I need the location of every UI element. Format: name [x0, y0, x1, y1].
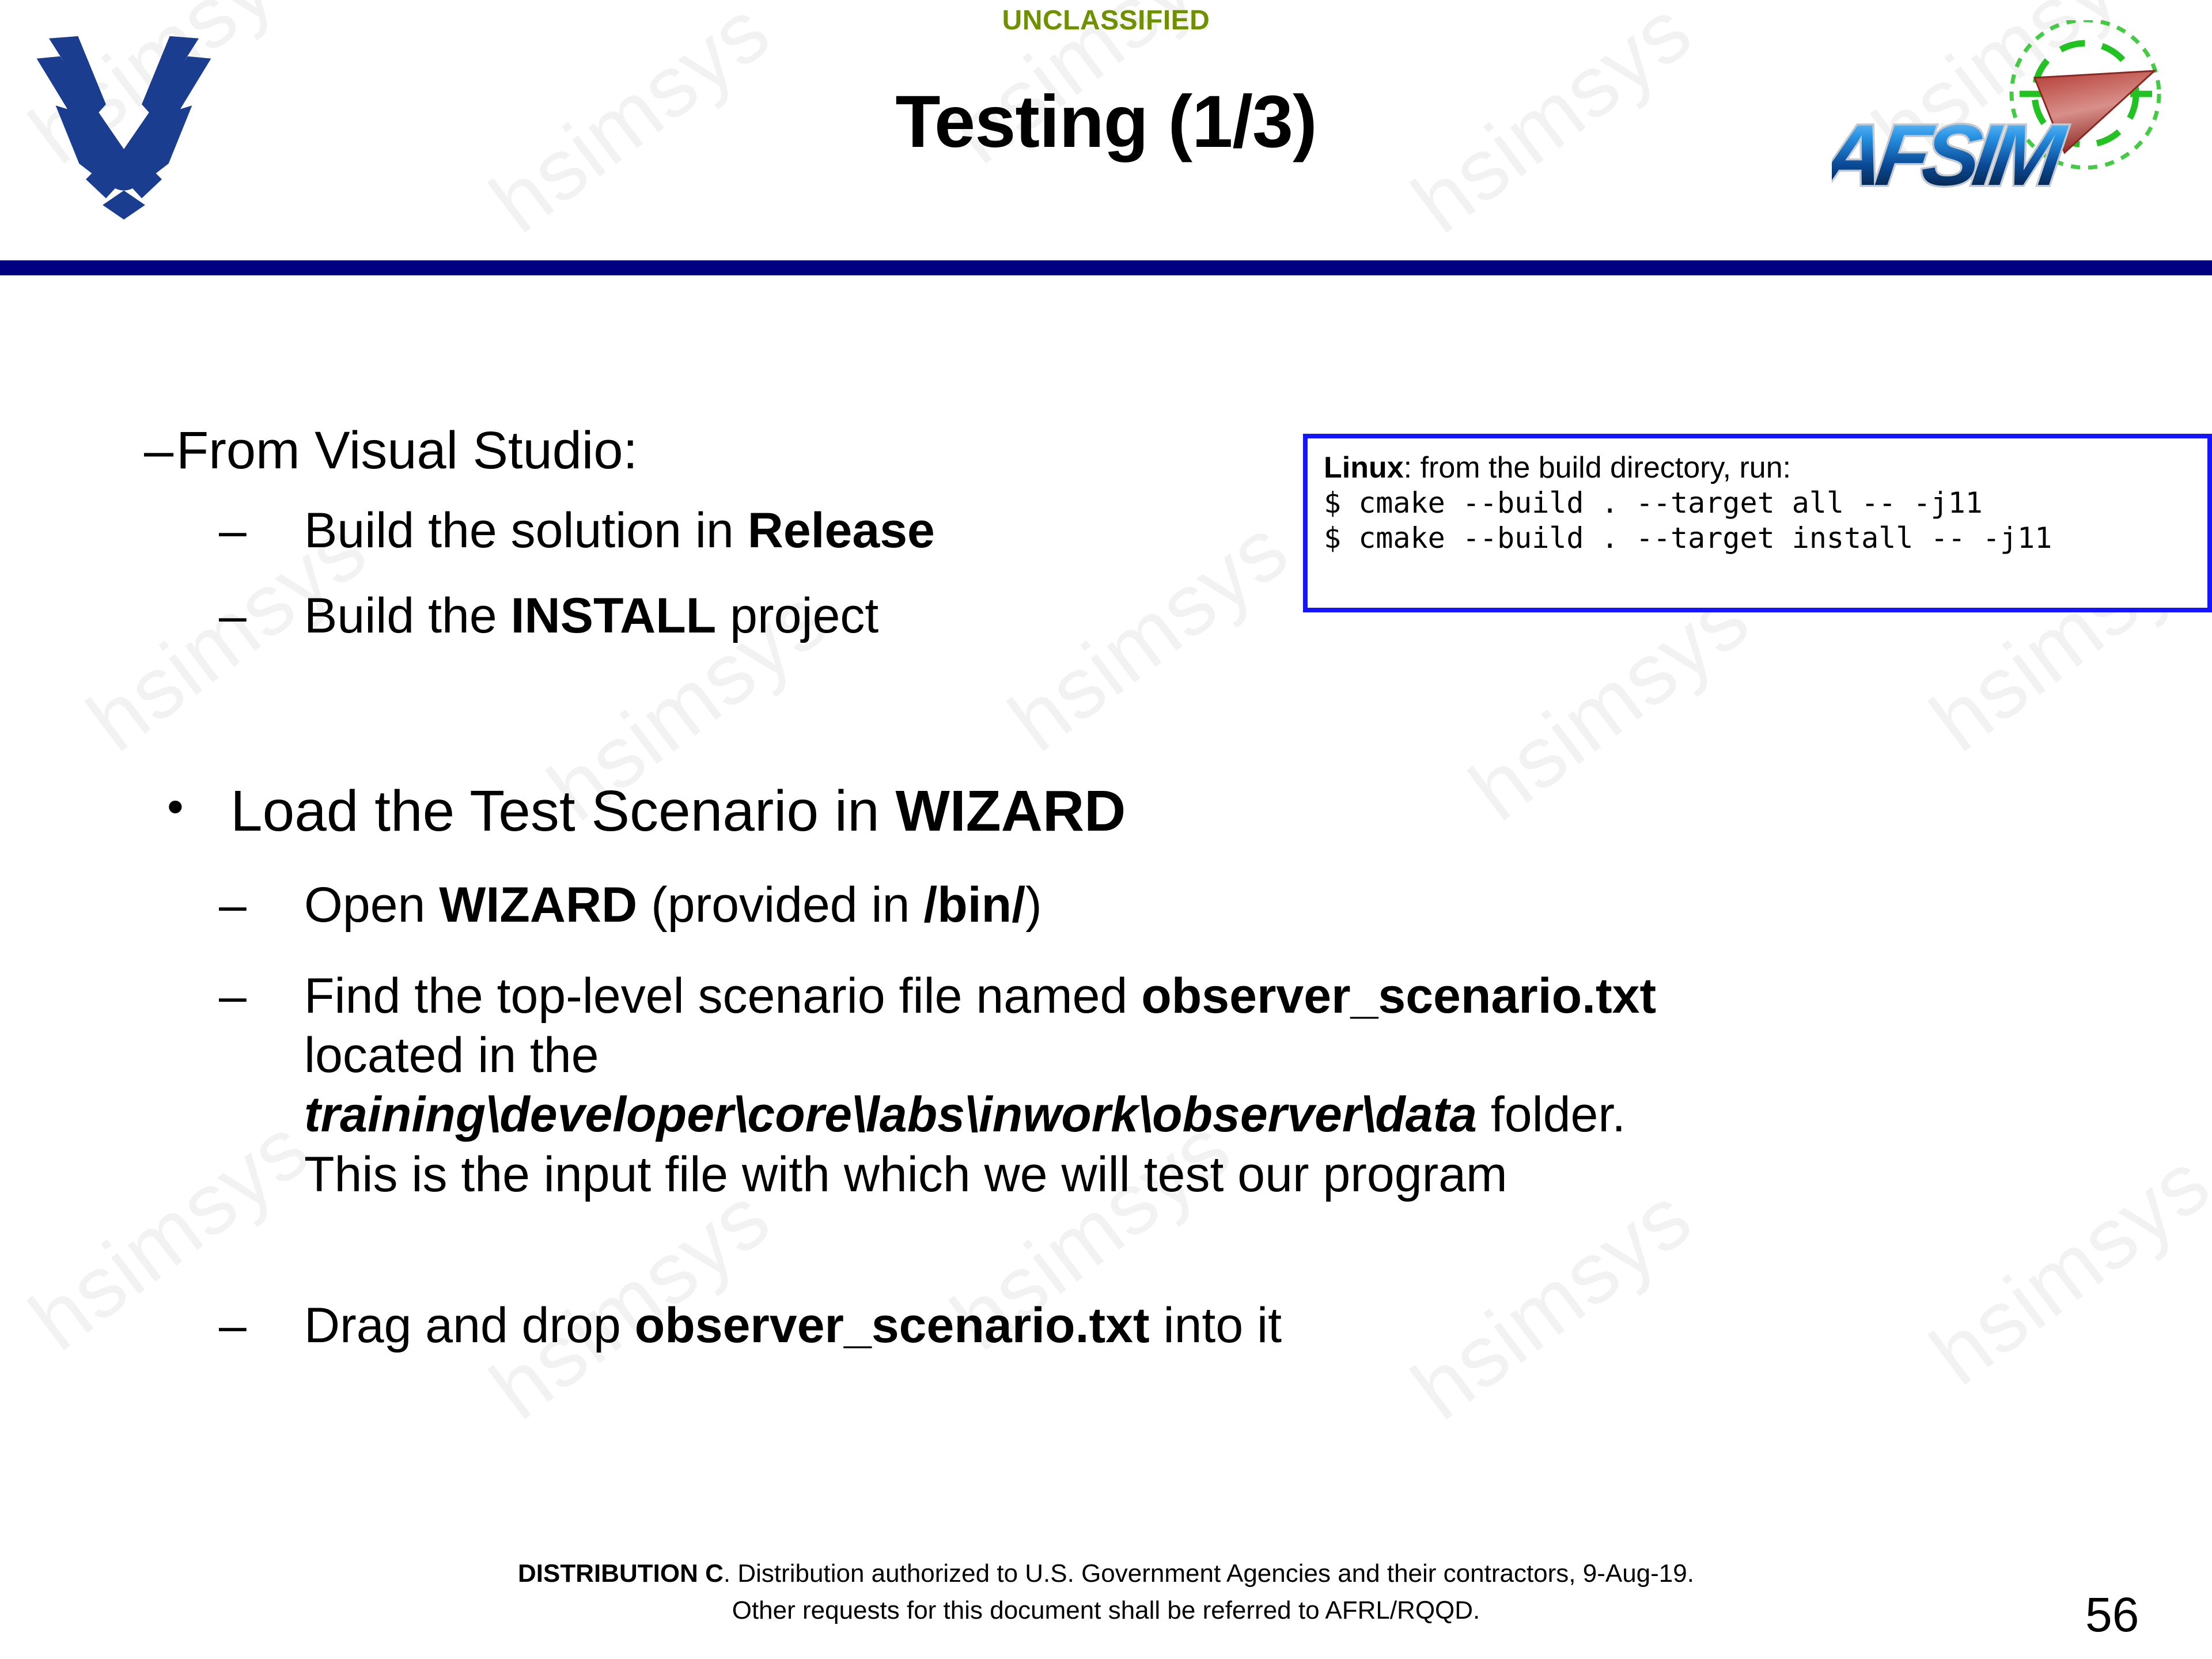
bullet-text: Find the top-level scenario file named o…: [304, 967, 1687, 1205]
bullet-from-visual-studio: –From Visual Studio:: [144, 424, 638, 477]
bullet-text-path: training\developer\core\labs\inwork\obse…: [304, 1087, 1477, 1142]
bullet-text-seg: ): [1025, 877, 1042, 933]
air-force-wings-logo: [12, 32, 236, 222]
dot-bullet-marker: •: [167, 782, 230, 832]
bullet-drag-and-drop: – Drag and drop observer_scenario.txt in…: [219, 1301, 1282, 1350]
bullet-text-pre: Build the solution in: [304, 503, 748, 558]
distribution-statement: DISTRIBUTION C. Distribution authorized …: [0, 1555, 2212, 1592]
header-divider: [0, 260, 2212, 275]
linux-label-rest: : from the build directory, run:: [1404, 451, 1791, 484]
linux-label-bold: Linux: [1324, 451, 1404, 484]
bullet-text-pre: Load the Test Scenario in: [230, 779, 896, 843]
bullet-text: From Visual Studio:: [176, 421, 638, 480]
bullet-text-seg: (provided in: [637, 877, 923, 933]
bullet-text-post: project: [716, 588, 878, 643]
bullet-text-seg: located in the: [304, 1028, 599, 1083]
bullet-build-solution-release: – Build the solution in Release: [219, 506, 935, 555]
svg-text:AFSIM: AFSIM: [1832, 107, 2072, 203]
dash-bullet-marker: –: [219, 880, 304, 930]
bullet-text: Build the INSTALL project: [304, 591, 878, 641]
linux-callout-label: Linux: from the build directory, run:: [1324, 451, 2202, 486]
bullet-text-seg: Drag and drop: [304, 1298, 635, 1353]
bullet-text-seg: Find the top-level scenario file named: [304, 968, 1141, 1024]
afsim-wordmark: AFSIM: [1832, 107, 2072, 203]
bullet-load-test-scenario: • Load the Test Scenario in WIZARD: [167, 782, 1126, 840]
linux-command-line: $ cmake --build . --target install -- -j…: [1324, 521, 2202, 556]
bullet-text-pre: Build the: [304, 588, 511, 643]
page-number: 56: [2085, 1587, 2139, 1643]
bullet-text: Load the Test Scenario in WIZARD: [230, 782, 1126, 840]
distribution-statement-line2: Other requests for this document shall b…: [0, 1592, 2212, 1629]
bullet-text-emphasis: INSTALL: [511, 588, 717, 643]
bullet-text-emphasis: Release: [748, 503, 935, 558]
slide-footer: DISTRIBUTION C. Distribution authorized …: [0, 1555, 2212, 1629]
distribution-label: DISTRIBUTION C: [518, 1559, 724, 1588]
dash-bullet-marker: –: [219, 967, 304, 1026]
bullet-text-emphasis: WIZARD: [896, 779, 1126, 843]
bullet-text-path: /bin/: [923, 877, 1025, 933]
linux-command-line: $ cmake --build . --target all -- -j11: [1324, 486, 2202, 521]
bullet-text-filename: observer_scenario.txt: [1141, 968, 1656, 1024]
linux-command-callout: Linux: from the build directory, run: $ …: [1303, 434, 2212, 612]
bullet-build-install-project: – Build the INSTALL project: [219, 591, 878, 641]
bullet-text: Build the solution in Release: [304, 506, 935, 555]
bullet-text: Open WIZARD (provided in /bin/): [304, 880, 1042, 930]
dash-bullet-marker: –: [219, 591, 304, 641]
slide-root: hsimsys hsimsys hsimsys hsimsys hsimsys …: [0, 0, 2212, 1659]
dash-bullet-marker: –: [219, 1301, 304, 1350]
bullet-open-wizard: – Open WIZARD (provided in /bin/): [219, 880, 1042, 930]
slide-header: UNCLASSIFIED Testing (1/3): [0, 0, 2212, 260]
bullet-text-filename: observer_scenario.txt: [635, 1298, 1150, 1353]
dash-bullet-marker: –: [219, 506, 304, 555]
dash-bullet-marker: –: [144, 424, 176, 477]
bullet-text-seg: Open: [304, 877, 439, 933]
afsim-logo: AFSIM: [1832, 20, 2200, 222]
distribution-text: . Distribution authorized to U.S. Govern…: [724, 1559, 1694, 1588]
bullet-find-scenario-file: – Find the top-level scenario file named…: [219, 967, 1774, 1205]
bullet-text-emphasis: WIZARD: [439, 877, 637, 933]
bullet-text: Drag and drop observer_scenario.txt into…: [304, 1301, 1282, 1350]
bullet-text-seg: into it: [1150, 1298, 1282, 1353]
